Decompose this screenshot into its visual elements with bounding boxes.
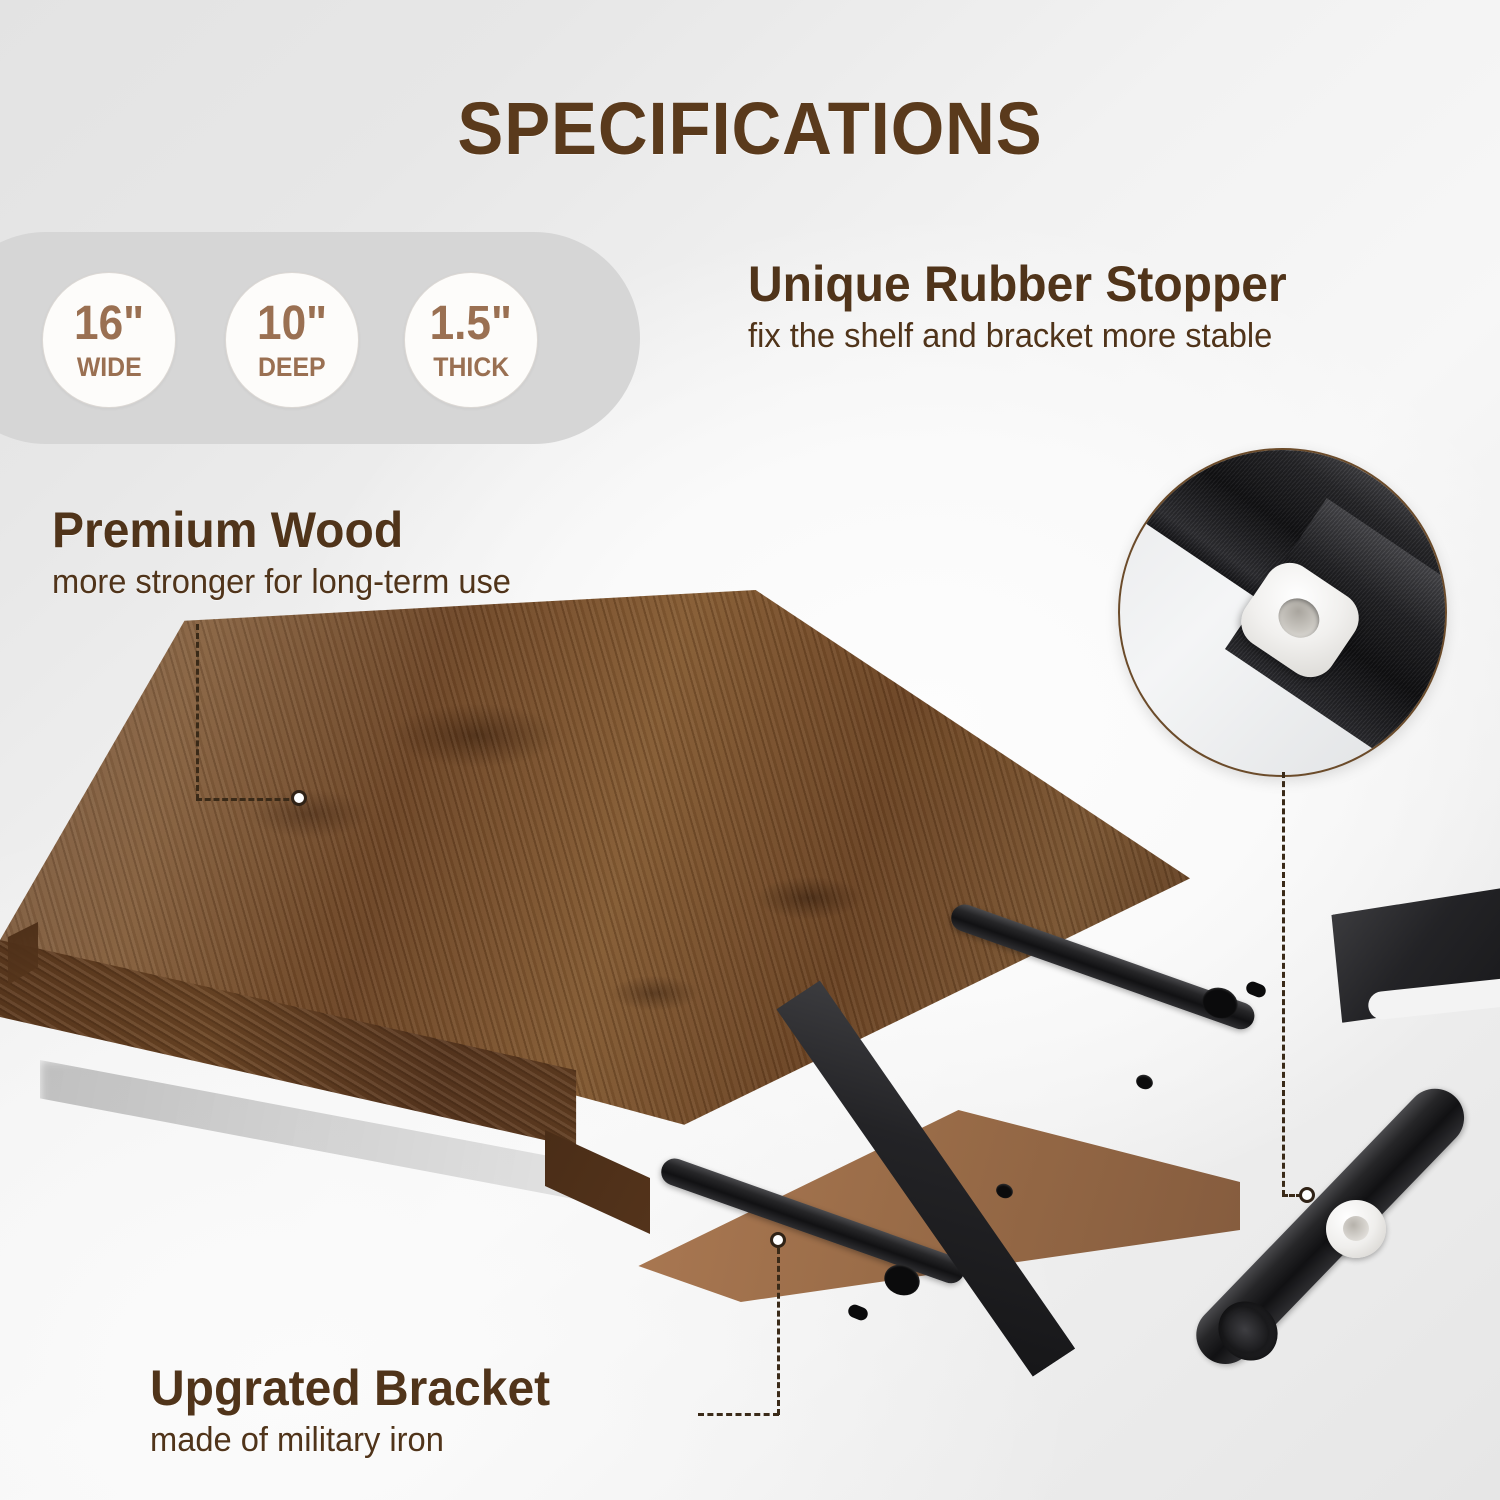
callout-rubber-stopper: Unique Rubber Stopper fix the shelf and … <box>748 258 1309 356</box>
callout-rubber-stopper-sub: fix the shelf and bracket more stable <box>748 317 1287 356</box>
leader-dot-stopper <box>1299 1187 1315 1203</box>
spec-badge-wide-label: WIDE <box>77 354 142 381</box>
spec-badge-deep-value: 10" <box>257 300 327 348</box>
bracket-hole-small-top <box>1244 980 1267 1000</box>
callout-upgraded-bracket-heading: Upgrated Bracket <box>150 1362 550 1415</box>
page-title: SPECIFICATIONS <box>53 86 1448 171</box>
callout-upgraded-bracket: Upgrated Bracket made of military iron <box>150 1362 567 1460</box>
callout-premium-wood-sub: more stronger for long-term use <box>52 563 511 602</box>
callout-upgraded-bracket-sub: made of military iron <box>150 1421 550 1460</box>
rubber-stopper-closeup-inset <box>1118 448 1447 777</box>
leader-dot-bracket <box>770 1232 786 1248</box>
spec-badge-thick: 1.5" THICK <box>404 272 538 408</box>
spec-badge-thick-label: THICK <box>433 354 509 381</box>
spec-badge-wide-value: 16" <box>74 300 144 348</box>
callout-premium-wood-heading: Premium Wood <box>52 504 511 557</box>
specifications-infographic: SPECIFICATIONS 16" WIDE 10" DEEP 1.5" TH… <box>0 0 1500 1500</box>
spec-badge-deep-label: DEEP <box>258 354 326 381</box>
callout-rubber-stopper-heading: Unique Rubber Stopper <box>748 258 1287 311</box>
leader-dot-wood <box>291 790 307 806</box>
spec-badge-thick-value: 1.5" <box>430 300 512 348</box>
spec-badge-wide: 16" WIDE <box>42 272 176 408</box>
rubber-stopper <box>1326 1200 1386 1258</box>
floating-wood-shelf <box>0 590 1220 1330</box>
spec-badge-deep: 10" DEEP <box>225 272 359 408</box>
callout-premium-wood: Premium Wood more stronger for long-term… <box>52 504 530 602</box>
